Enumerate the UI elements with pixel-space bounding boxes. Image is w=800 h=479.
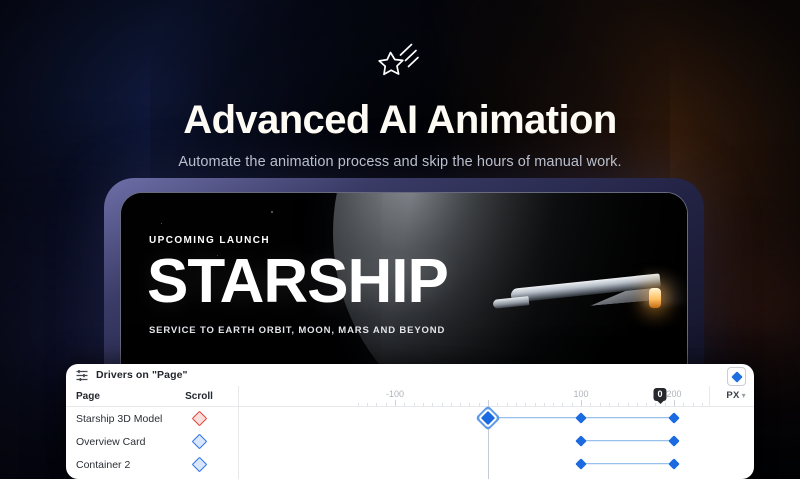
keyframe-diamond-icon: [191, 457, 207, 473]
keyframe-connector: [581, 440, 674, 442]
drivers-panel-header: Drivers on "Page": [66, 364, 754, 386]
layer-row[interactable]: Overview Card: [66, 430, 238, 453]
column-header-scroll: Scroll: [170, 391, 228, 402]
playhead-badge[interactable]: 0: [653, 388, 666, 401]
keyframe-marker[interactable]: [668, 458, 679, 469]
shooting-star-icon: [374, 38, 426, 86]
timeline-track[interactable]: [238, 406, 710, 429]
unit-label: PX: [726, 390, 739, 401]
layer-name: Container 2: [76, 459, 170, 471]
unit-divider: [709, 386, 710, 406]
drivers-icon: [76, 370, 88, 381]
keyframe-marker[interactable]: [668, 435, 679, 446]
unit-selector[interactable]: PX▾: [726, 390, 746, 401]
keyframe-marker[interactable]: [575, 458, 586, 469]
keyframe-marker[interactable]: [668, 412, 679, 423]
keyframe-connector: [581, 463, 674, 465]
layer-list-header: Page Scroll: [66, 386, 238, 407]
keyframe-diamond-icon: [191, 411, 207, 427]
scroll-driver-cell[interactable]: [170, 459, 228, 470]
layer-row[interactable]: Starship 3D Model: [66, 407, 238, 430]
ruler-tick-label: 200: [666, 389, 681, 399]
page-subtitle: Automate the animation process and skip …: [0, 154, 800, 170]
drivers-panel: Drivers on "Page" Page Scroll Starship 3…: [66, 364, 754, 479]
layer-row[interactable]: Container 2: [66, 453, 238, 476]
timeline-track[interactable]: [238, 429, 710, 452]
page-title: Advanced AI Animation: [0, 100, 800, 140]
layer-name: Overview Card: [76, 436, 170, 448]
chevron-down-icon: ▾: [742, 391, 746, 400]
keyframe-marker[interactable]: [575, 435, 586, 446]
keyframe-toggle-button[interactable]: [727, 367, 746, 386]
hero-section: Advanced AI Animation Automate the anima…: [0, 0, 800, 170]
scroll-driver-cell[interactable]: [170, 413, 228, 424]
panel-column-divider: [238, 386, 239, 479]
mockup-eyebrow: UPCOMING LAUNCH: [149, 235, 270, 246]
mockup-headline: STARSHIP: [147, 251, 448, 313]
timeline-ruler[interactable]: -100100200300 PX▾: [238, 386, 754, 407]
keyframe-marker[interactable]: [481, 410, 495, 424]
ruler-tick-label: 100: [573, 389, 588, 399]
keyframe-diamond-icon: [731, 371, 742, 382]
scroll-driver-cell[interactable]: [170, 436, 228, 447]
mockup-subline: SERVICE TO EARTH ORBIT, MOON, MARS AND B…: [149, 325, 445, 336]
column-header-page: Page: [76, 391, 170, 402]
timeline-track[interactable]: [238, 452, 710, 475]
keyframe-marker[interactable]: [575, 412, 586, 423]
timeline[interactable]: -100100200300 PX▾ 0: [238, 386, 754, 479]
drivers-panel-body: Page Scroll Starship 3D Model Overview C…: [66, 386, 754, 479]
layer-name: Starship 3D Model: [76, 413, 170, 425]
keyframe-diamond-icon: [191, 434, 207, 450]
drivers-panel-title: Drivers on "Page": [96, 369, 188, 381]
timeline-tracks[interactable]: [238, 406, 710, 479]
rocket-graphic: [493, 271, 683, 323]
ruler-tick-label: -100: [386, 389, 404, 399]
layer-list: Page Scroll Starship 3D Model Overview C…: [66, 386, 239, 479]
